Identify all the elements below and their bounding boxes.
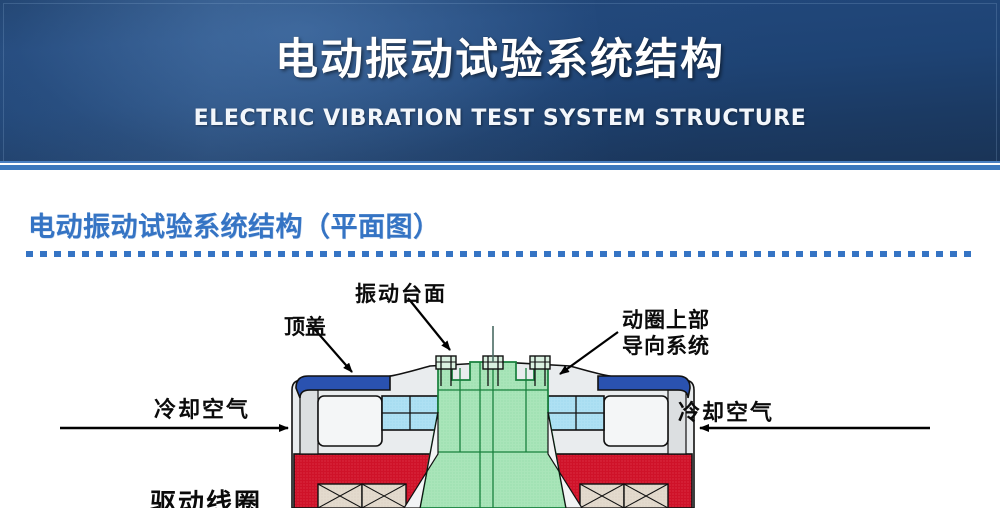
label-table-surface: 振动台面 — [355, 282, 447, 306]
label-cooling-air-left: 冷却空气 — [154, 397, 250, 423]
label-guide-system-line1: 动圈上部 — [622, 308, 710, 332]
header-banner: 电动振动试验系统结构 ELECTRIC VIBRATION TEST SYSTE… — [0, 0, 1000, 170]
label-drive-coil: 驱动线圈 — [150, 489, 262, 508]
section-heading: 电动振动试验系统结构（平面图） — [28, 205, 441, 244]
guide-block-right — [604, 396, 668, 446]
banner-sheen-decoration — [0, 0, 614, 170]
page-subtitle: ELECTRIC VIBRATION TEST SYSTEM STRUCTURE — [0, 106, 1000, 131]
page-title: 电动振动试验系统结构 — [0, 36, 1000, 84]
banner-rule-thick — [0, 165, 1000, 170]
label-guide-system-line2: 导向系统 — [622, 334, 710, 358]
section-divider-dashed — [26, 250, 974, 256]
label-cooling-air-right: 冷却空气 — [678, 400, 774, 426]
core-segments-left — [318, 484, 406, 508]
core-segments-right — [580, 484, 668, 508]
diagram-container: 顶盖 振动台面 动圈上部 导向系统 冷却空气 冷却空气 驱动线圈 — [0, 262, 1000, 508]
label-top-cover: 顶盖 — [284, 315, 326, 339]
leader-guide-system — [560, 332, 618, 374]
housing-shoulder-left — [300, 390, 318, 454]
page-root: 电动振动试验系统结构 ELECTRIC VIBRATION TEST SYSTE… — [0, 0, 1000, 508]
guide-block-left — [318, 396, 382, 446]
vibration-system-diagram: 顶盖 振动台面 动圈上部 导向系统 冷却空气 冷却空气 驱动线圈 — [0, 262, 1000, 508]
